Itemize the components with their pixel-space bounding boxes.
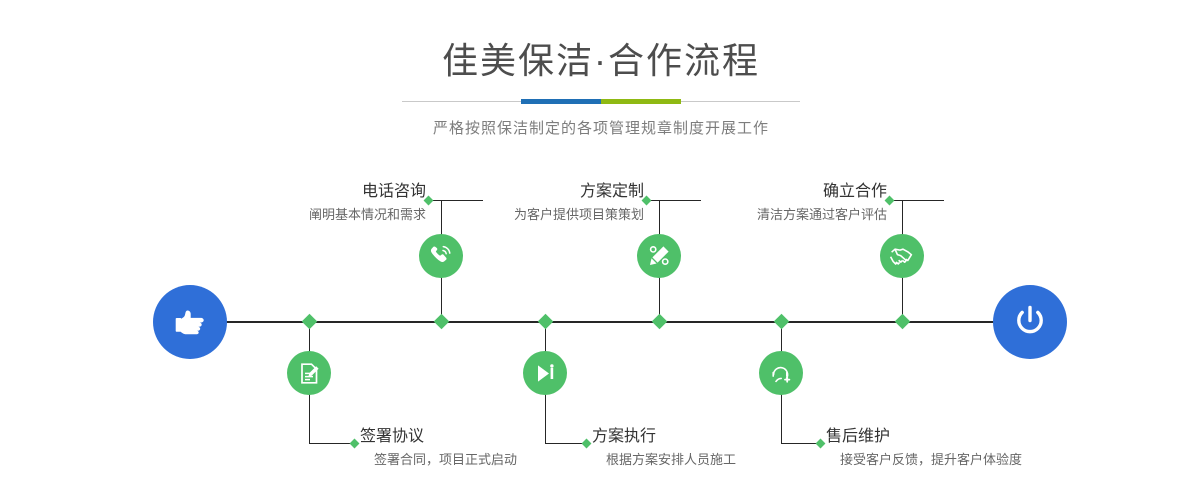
pointing-hand-icon [170,302,210,342]
customer-service-add-icon [769,361,794,386]
axis-diamond-4 [538,314,554,330]
step-title: 方案执行 [592,427,736,447]
axis-diamond-5 [895,314,911,330]
step-connector-h-6 [781,443,819,444]
step-node-2[interactable] [287,351,331,395]
axis-diamond-2 [302,314,318,330]
step-connector-h-2 [309,443,354,444]
step-title: 签署协议 [360,427,517,447]
step-desc: 清洁方案通过客户评估 [757,205,887,225]
process-timeline: 电话咨询 阐明基本情况和需求 [0,155,1202,502]
step-desc: 根据方案安排人员施工 [606,450,736,470]
handshake-icon [889,243,915,269]
timeline-axis [155,321,1050,323]
step-desc: 接受客户反馈，提升客户体验度 [840,450,1022,470]
phone-call-icon [428,243,454,269]
power-icon [1009,301,1051,343]
timeline-start-node[interactable] [153,285,227,359]
step-title: 电话咨询 [309,182,426,202]
axis-diamond-1 [434,314,450,330]
step-title: 确立合作 [757,182,887,202]
page-header: 佳美保洁·合作流程 严格按照保洁制定的各项管理规章制度开展工作 [0,0,1202,138]
page-subtitle: 严格按照保洁制定的各项管理规章制度开展工作 [0,117,1202,138]
step-connector-h-5 [890,200,944,201]
step-desc: 阐明基本情况和需求 [309,205,426,225]
step-title: 售后维护 [826,427,1022,447]
step-label-4: 方案执行 根据方案安排人员施工 [592,427,736,470]
step-connector-dot-6 [816,439,826,449]
step-title: 方案定制 [514,182,644,202]
step-node-4[interactable] [523,351,567,395]
play-execute-icon [533,361,558,386]
divider-segment-blue [521,99,601,104]
document-edit-icon [297,361,322,386]
step-label-6: 售后维护 接受客户反馈，提升客户体验度 [826,427,1022,470]
title-divider [402,99,800,105]
step-connector-dot-2 [350,439,360,449]
divider-segment-green [601,99,681,104]
step-node-6[interactable] [759,351,803,395]
timeline-end-node[interactable] [993,285,1067,359]
step-connector-dot-4 [582,439,592,449]
step-desc: 签署合同，项目正式启动 [374,450,517,470]
step-label-3: 方案定制 为客户提供项目策策划 [514,182,644,225]
step-connector-h-4 [545,443,585,444]
page-title: 佳美保洁·合作流程 [0,0,1202,83]
step-desc: 为客户提供项目策策划 [514,205,644,225]
step-label-2: 签署协议 签署合同，项目正式启动 [360,427,517,470]
pencil-ruler-icon [646,243,672,269]
step-connector-h-3 [647,200,701,201]
step-node-5[interactable] [880,234,924,278]
step-connector-h-1 [429,200,483,201]
flow-diagram-page: 佳美保洁·合作流程 严格按照保洁制定的各项管理规章制度开展工作 [0,0,1202,502]
step-label-5: 确立合作 清洁方案通过客户评估 [757,182,887,225]
axis-diamond-3 [652,314,668,330]
step-label-1: 电话咨询 阐明基本情况和需求 [309,182,426,225]
axis-diamond-6 [774,314,790,330]
step-node-3[interactable] [637,234,681,278]
step-node-1[interactable] [419,234,463,278]
